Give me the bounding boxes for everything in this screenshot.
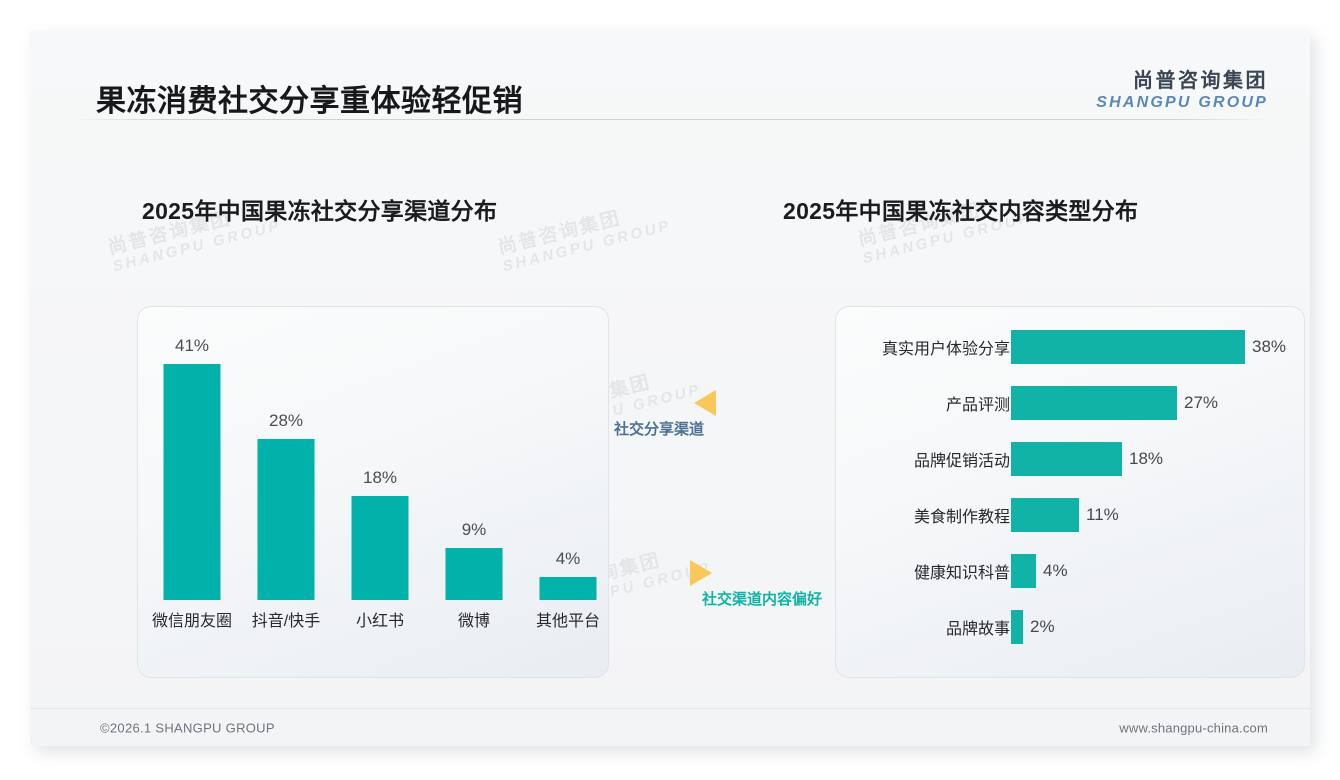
bar-category-label: 产品评测 — [946, 391, 1010, 415]
watermark: 尚普咨询集团 SHANGPU GROUP — [496, 198, 673, 276]
bar-value-label: 38% — [1252, 337, 1286, 357]
header: 果冻消费社交分享重体验轻促销 尚普咨询集团 SHANGPU GROUP — [30, 30, 1310, 120]
column-category-label: 微博 — [458, 607, 490, 631]
column-bar[interactable] — [164, 364, 221, 600]
brand-logo: 尚普咨询集团 SHANGPU GROUP — [1096, 64, 1268, 112]
column-item: 28%抖音/快手 — [239, 298, 333, 643]
column-bar[interactable] — [258, 439, 315, 600]
column-bar-wrap: 9% — [427, 341, 521, 600]
column-value-label: 18% — [363, 468, 397, 488]
column-bar[interactable] — [540, 577, 597, 600]
column-item: 18%小红书 — [333, 298, 427, 643]
bar-row: 产品评测27% — [835, 386, 1305, 420]
bar-fill[interactable] — [1011, 554, 1036, 588]
column-bar[interactable] — [446, 548, 503, 600]
bar-fill[interactable] — [1011, 498, 1079, 532]
column-chart: 41%微信朋友圈28%抖音/快手18%小红书9%微博4%其他平台 — [137, 298, 609, 643]
bar-value-label: 11% — [1086, 505, 1119, 525]
bar-row: 品牌促销活动18% — [835, 442, 1305, 476]
annotation-label: 社交分享渠道 — [614, 418, 704, 439]
bar-category-label: 健康知识科普 — [914, 559, 1010, 583]
slide-card: 尚普咨询集团 SHANGPU GROUP 尚普咨询集团 SHANGPU GROU… — [30, 30, 1310, 746]
triangle-left-icon — [694, 390, 716, 416]
column-bar[interactable] — [352, 496, 409, 600]
bar-fill[interactable] — [1011, 610, 1023, 644]
logo-en-text: SHANGPU GROUP — [1096, 94, 1268, 112]
footer-bar: ©2026.1 SHANGPU GROUP www.shangpu-china.… — [30, 708, 1310, 746]
watermark-cn: 尚普咨询集团 — [496, 198, 669, 260]
column-value-label: 4% — [556, 549, 581, 569]
bar-value-label: 18% — [1129, 449, 1163, 469]
page-title: 果冻消费社交分享重体验轻促销 — [96, 76, 523, 120]
website-text[interactable]: www.shangpu-china.com — [1119, 720, 1268, 735]
column-value-label: 28% — [269, 411, 303, 431]
slide-root: 尚普咨询集团 SHANGPU GROUP 尚普咨询集团 SHANGPU GROU… — [0, 0, 1340, 780]
column-category-label: 小红书 — [356, 607, 404, 631]
watermark-en: SHANGPU GROUP — [501, 218, 673, 276]
bar-category-label: 真实用户体验分享 — [882, 335, 1010, 359]
column-item: 41%微信朋友圈 — [145, 298, 239, 643]
bar-category-label: 品牌故事 — [946, 615, 1010, 639]
column-item: 4%其他平台 — [521, 298, 615, 643]
bar-fill[interactable] — [1011, 330, 1245, 364]
chart-title-left: 2025年中国果冻社交分享渠道分布 — [142, 192, 497, 226]
chart-title-right: 2025年中国果冻社交内容类型分布 — [783, 192, 1138, 226]
bar-row: 品牌故事2% — [835, 610, 1305, 644]
column-category-label: 抖音/快手 — [252, 607, 320, 631]
column-bar-wrap: 18% — [333, 341, 427, 600]
bar-row: 美食制作教程11% — [835, 498, 1305, 532]
bar-value-label: 4% — [1043, 561, 1068, 581]
bar-value-label: 2% — [1030, 617, 1055, 637]
column-category-label: 微信朋友圈 — [152, 607, 232, 631]
column-bar-wrap: 28% — [239, 341, 333, 600]
bar-category-label: 品牌促销活动 — [914, 447, 1010, 471]
column-value-label: 41% — [175, 336, 209, 356]
bar-fill[interactable] — [1011, 442, 1122, 476]
bar-row: 真实用户体验分享38% — [835, 330, 1305, 364]
column-bar-wrap: 4% — [521, 341, 615, 600]
watermark-en: SHANGPU GROUP — [111, 218, 283, 276]
column-value-label: 9% — [462, 520, 487, 540]
bar-row: 健康知识科普4% — [835, 554, 1305, 588]
bar-category-label: 美食制作教程 — [914, 503, 1010, 527]
annotation-label: 社交渠道内容偏好 — [702, 588, 822, 609]
bar-fill[interactable] — [1011, 386, 1177, 420]
bar-value-label: 27% — [1184, 393, 1218, 413]
header-divider — [70, 119, 1270, 120]
copyright-text: ©2026.1 SHANGPU GROUP — [100, 720, 275, 735]
bar-chart: 真实用户体验分享38%产品评测27%品牌促销活动18%美食制作教程11%健康知识… — [835, 320, 1305, 660]
logo-cn-text: 尚普咨询集团 — [1096, 64, 1268, 93]
column-item: 9%微博 — [427, 298, 521, 643]
column-bar-wrap: 41% — [145, 341, 239, 600]
triangle-right-icon — [690, 560, 712, 586]
column-category-label: 其他平台 — [536, 607, 600, 631]
